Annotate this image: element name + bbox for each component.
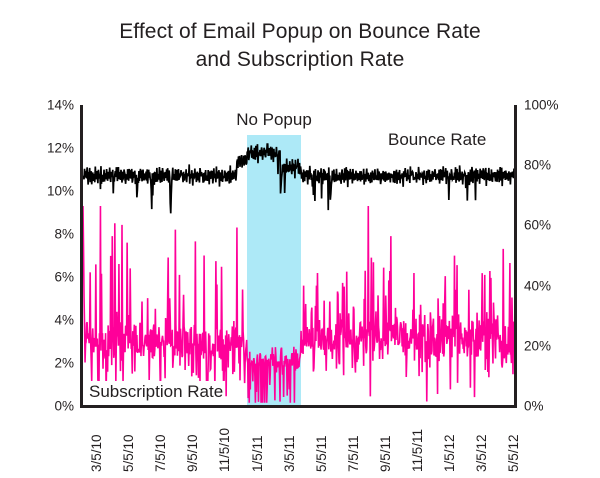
x-axis-tick-3: 9/5/10 <box>186 434 200 472</box>
right-axis-tick-0: 0% <box>524 399 584 413</box>
left-axis-tick-6: 12% <box>20 141 74 155</box>
x-axis-tick-12: 3/5/12 <box>475 434 489 472</box>
bounce-rate-annotation: Bounce Rate <box>388 130 486 150</box>
x-axis-tick-0: 3/5/10 <box>90 434 104 472</box>
no-popup-annotation: No Popup <box>194 110 354 130</box>
left-axis-tick-3: 6% <box>20 270 74 284</box>
right-axis-tick-1: 20% <box>524 339 584 353</box>
left-axis-tick-0: 0% <box>20 399 74 413</box>
plot-area <box>0 0 600 478</box>
left-axis-tick-4: 8% <box>20 227 74 241</box>
right-axis-tick-3: 60% <box>524 219 584 233</box>
right-axis-tick-2: 40% <box>524 279 584 293</box>
x-axis-tick-5: 1/5/11 <box>251 435 265 472</box>
x-axis-tick-10: 11/5/11 <box>411 429 425 472</box>
x-axis-tick-9: 9/5/11 <box>379 435 393 472</box>
x-axis-tick-13: 5/5/12 <box>507 434 521 472</box>
chart-figure: Effect of Email Popup on Bounce Rate and… <box>0 0 600 478</box>
subscription-rate-annotation: Subscription Rate <box>86 381 225 403</box>
x-axis-tick-2: 7/5/10 <box>154 434 168 472</box>
x-axis-tick-4: 11/5/10 <box>218 428 232 472</box>
x-axis-tick-6: 3/5/11 <box>283 435 297 472</box>
x-axis-tick-1: 5/5/10 <box>122 434 136 472</box>
x-axis-tick-11: 1/5/12 <box>443 434 457 472</box>
right-axis-tick-5: 100% <box>524 98 584 112</box>
left-axis-tick-7: 14% <box>20 98 74 112</box>
x-axis-tick-8: 7/5/11 <box>347 435 361 472</box>
left-axis-tick-5: 10% <box>20 184 74 198</box>
left-axis-tick-1: 2% <box>20 356 74 370</box>
right-axis-tick-4: 80% <box>524 158 584 172</box>
x-axis-tick-7: 5/5/11 <box>315 435 329 472</box>
left-axis-tick-2: 4% <box>20 313 74 327</box>
